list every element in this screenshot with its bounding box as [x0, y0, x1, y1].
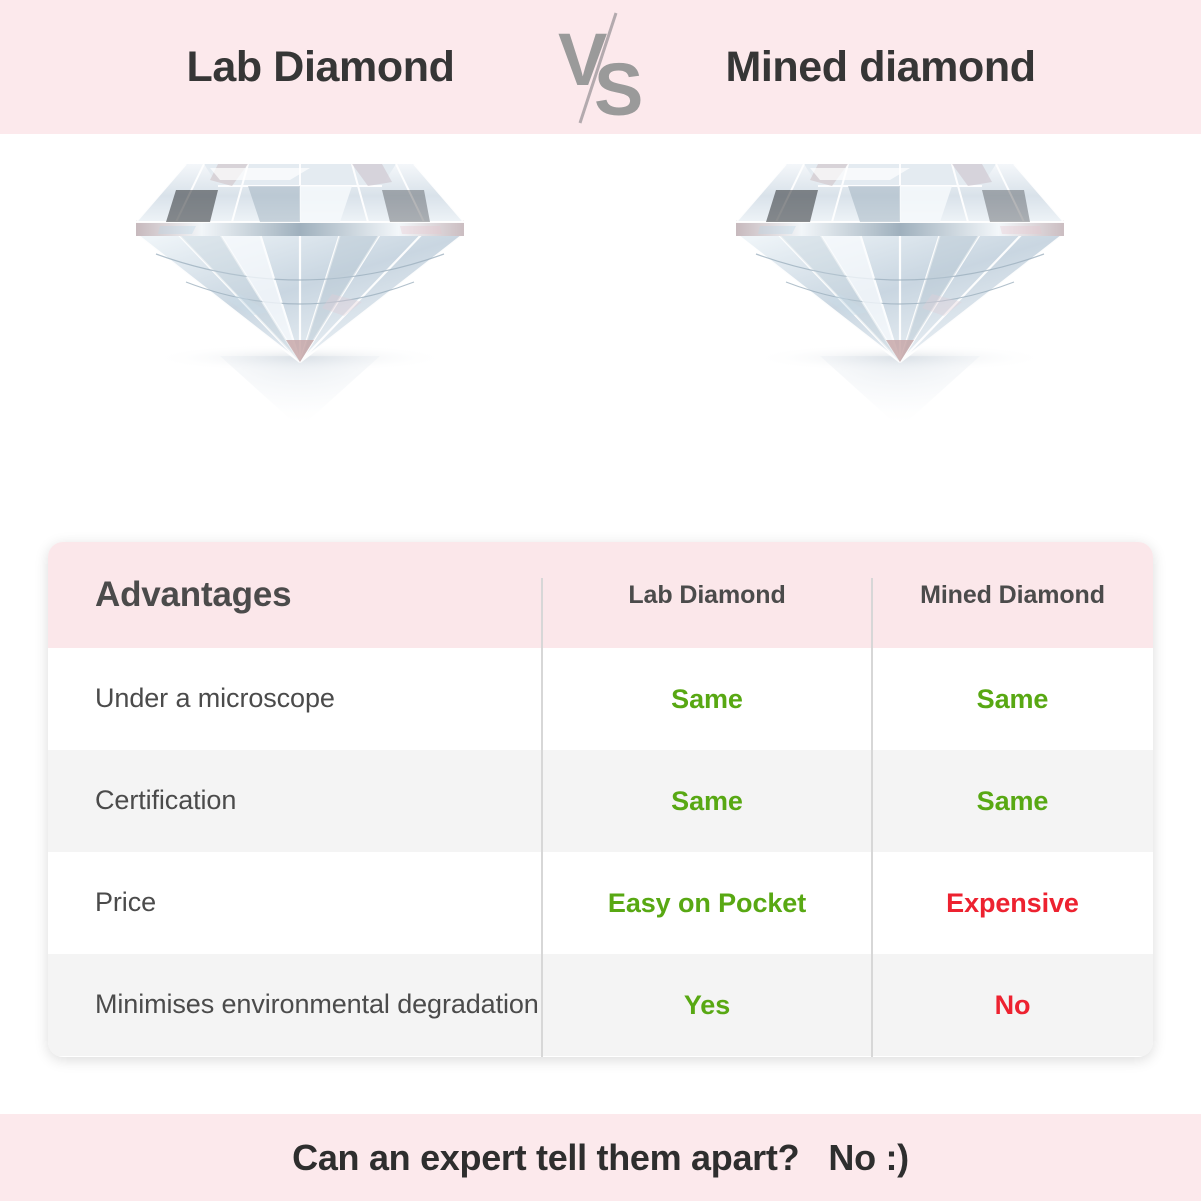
column-header-advantages: Advantages [48, 575, 542, 615]
row-feature-label: Minimises environmental degradation [48, 987, 542, 1023]
comparison-table: Advantages Lab Diamond Mined Diamond Und… [48, 542, 1153, 1057]
row-value-mined: Expensive [872, 888, 1153, 919]
row-value-mined: No [872, 990, 1153, 1021]
header-band: Lab Diamond V S Mined diamond [0, 0, 1201, 134]
table-row: Under a microscope Same Same [48, 648, 1153, 750]
row-feature-label: Under a microscope [48, 681, 542, 717]
header-title-mined: Mined diamond [666, 43, 1096, 92]
column-header-mined-diamond: Mined Diamond [872, 581, 1153, 610]
row-feature-label: Price [48, 885, 542, 921]
row-feature-label: Certification [48, 783, 542, 819]
diamond-gallery [0, 134, 1201, 542]
row-value-mined: Same [872, 786, 1153, 817]
column-header-lab-diamond: Lab Diamond [542, 581, 872, 610]
footer-question: Can an expert tell them apart? No :) [292, 1137, 909, 1179]
table-row: Minimises environmental degradation Yes … [48, 954, 1153, 1056]
mined-diamond-photo [600, 134, 1200, 542]
table-header-row: Advantages Lab Diamond Mined Diamond [48, 542, 1153, 648]
footer-band: Can an expert tell them apart? No :) [0, 1114, 1201, 1201]
table-row: Price Easy on Pocket Expensive [48, 852, 1153, 954]
header-title-lab: Lab Diamond [106, 43, 536, 92]
row-value-lab: Easy on Pocket [542, 888, 872, 919]
column-divider-right [871, 578, 873, 1057]
lab-diamond-photo [0, 134, 600, 542]
row-value-mined: Same [872, 684, 1153, 715]
row-value-lab: Yes [542, 990, 872, 1021]
column-divider-left [541, 578, 543, 1057]
row-value-lab: Same [542, 684, 872, 715]
table-row: Certification Same Same [48, 750, 1153, 852]
row-value-lab: Same [542, 786, 872, 817]
versus-icon: V S [536, 0, 666, 134]
